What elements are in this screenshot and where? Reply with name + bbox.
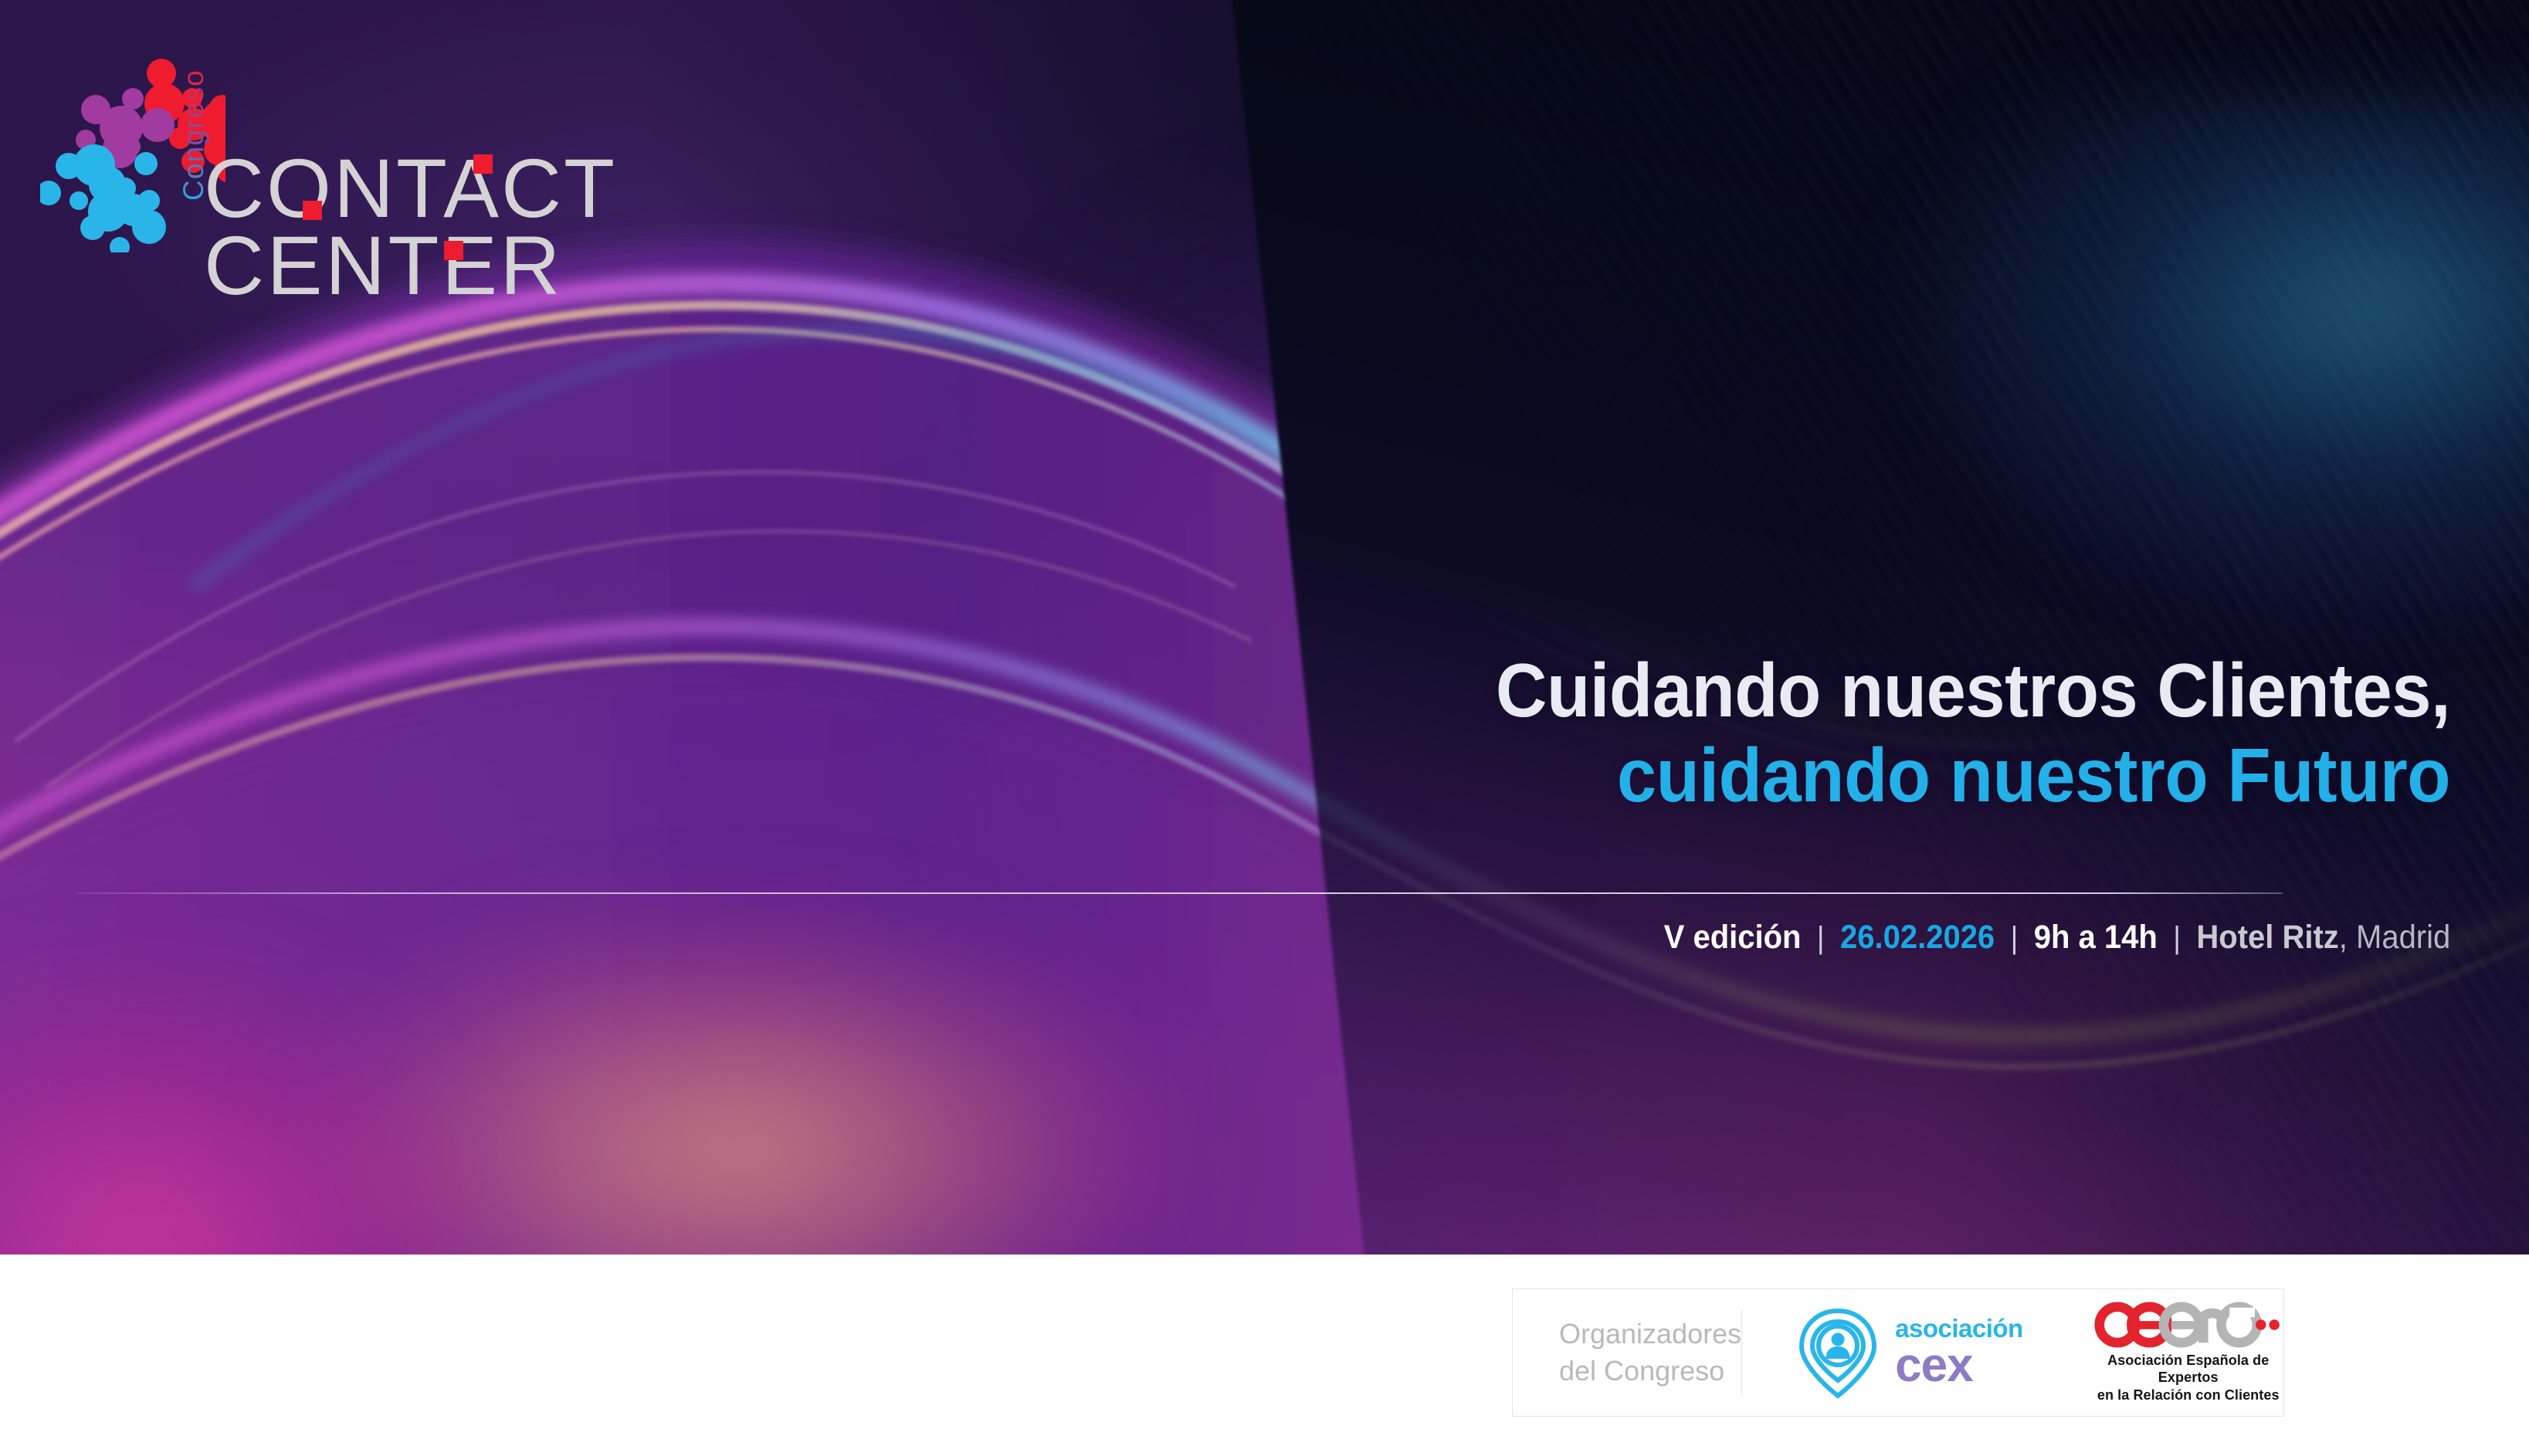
event-venue: Hotel Ritz [2196, 919, 2338, 957]
red-square-accent-center-icon [444, 241, 463, 260]
headline-divider [76, 892, 2283, 894]
cex-wordmark: asociación cex [1895, 1315, 2023, 1390]
cex-logo[interactable]: asociación cex [1742, 1305, 2023, 1400]
headline-line-1: Cuidando nuestros Clientes, [1496, 648, 2450, 733]
meta-separator-2: | [1995, 921, 2034, 956]
event-city: , Madrid [2339, 919, 2450, 957]
hero-banner: Congreso CONTACT CENTER Cuidando nuestro… [0, 0, 2529, 1255]
cex-name-text: cex [1895, 1339, 1972, 1392]
aeerc-mark-icon [2093, 1302, 2280, 1348]
aeerc-tagline-line2: en la Relación con Clientes [2093, 1387, 2284, 1404]
aeerc-tagline-line1: Asociación Española de Expertos [2093, 1352, 2284, 1387]
organizers-label: Organizadores del Congreso [1513, 1315, 1741, 1390]
hero-headline: Cuidando nuestros Clientes, cuidando nue… [1435, 648, 2450, 818]
event-banner-page: Congreso CONTACT CENTER Cuidando nuestro… [0, 0, 2529, 1456]
meta-separator-1: | [1801, 921, 1840, 956]
event-edition: V edición [1663, 919, 1801, 957]
event-date: 26.02.2026 [1840, 919, 1995, 957]
event-meta: V edición | 26.02.2026 | 9h a 14h | Hote… [1663, 919, 2450, 957]
wordmark-line-center: CENTER [204, 227, 617, 304]
cex-pin-icon [1793, 1305, 1883, 1400]
meta-separator-3: | [2158, 921, 2197, 956]
footer: Organizadores del Congreso asociación ce… [0, 1255, 2529, 1456]
red-square-accent-o-icon [303, 201, 322, 220]
organizers-box: Organizadores del Congreso asociación ce… [1512, 1288, 2284, 1417]
contact-center-wordmark: CONTACT CENTER [204, 150, 617, 305]
organizers-label-line1: Organizadores [1559, 1315, 1741, 1353]
aeerc-tagline: Asociación Española de Expertos en la Re… [2093, 1352, 2284, 1404]
congress-logo[interactable]: Congreso CONTACT CENTER [40, 48, 820, 272]
headline-line-2: cuidando nuestro Futuro [1496, 733, 2450, 818]
organizers-label-line2: del Congreso [1559, 1353, 1741, 1390]
event-time: 9h a 14h [2033, 919, 2157, 957]
red-square-accent-contact-icon [473, 154, 493, 174]
aeerc-logo[interactable]: Asociación Española de Expertos en la Re… [2023, 1302, 2284, 1404]
wordmark-line-contact: CONTACT [204, 150, 617, 227]
background-glow-teal [1880, 93, 2529, 633]
